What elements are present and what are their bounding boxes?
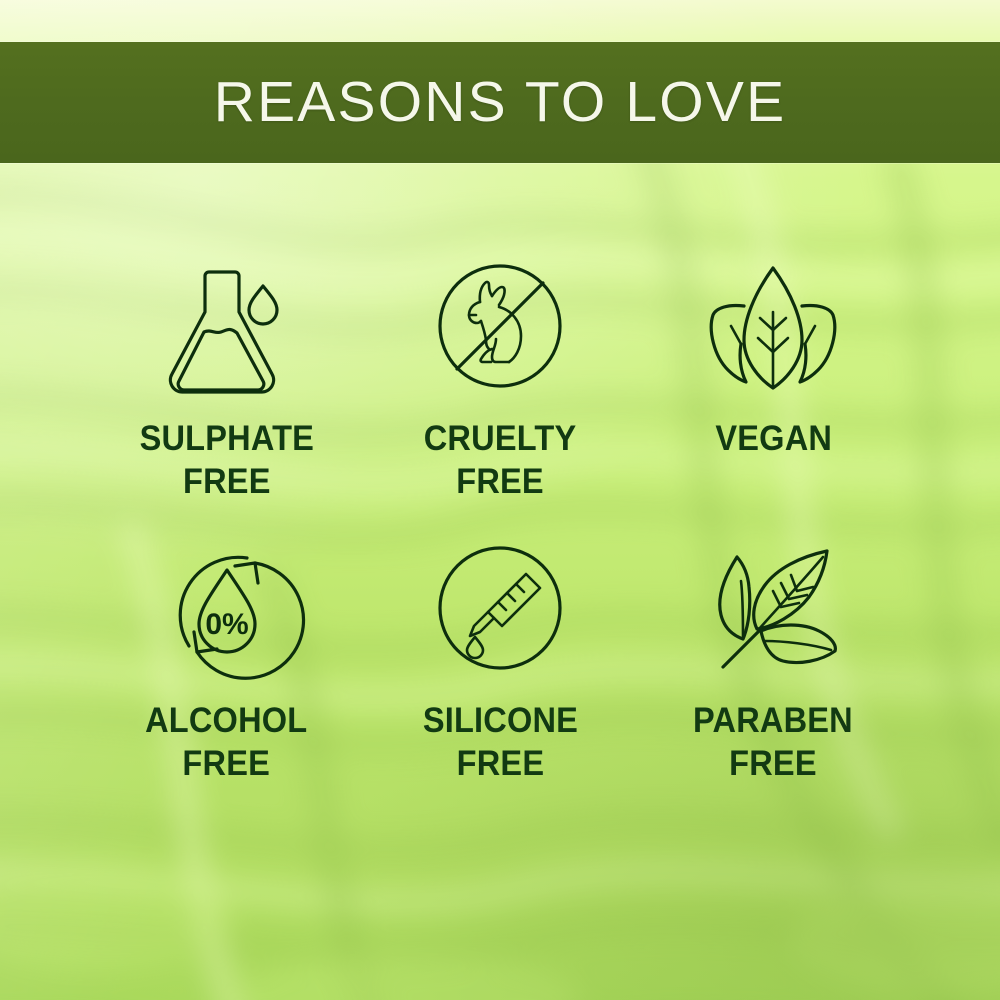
badge-label: CRUELTY FREE (424, 418, 577, 503)
badge-silicone-free: SILICONE FREE (363, 538, 636, 820)
badge-label: VEGAN (715, 418, 832, 461)
flask-droplet-icon (163, 256, 291, 396)
header-banner: REASONS TO LOVE (0, 42, 1000, 163)
badge-label: PARABEN FREE (693, 700, 853, 785)
badge-cruelty-free: CRUELTY FREE (363, 256, 636, 538)
badge-label: SILICONE FREE (422, 700, 577, 785)
dropper-pipette-icon (432, 538, 568, 678)
zero-percent-label: 0% (205, 608, 248, 641)
page-title: REASONS TO LOVE (214, 74, 787, 131)
three-leaves-icon (706, 256, 840, 396)
zero-percent-droplet-icon: 0% (159, 538, 295, 678)
reasons-to-love-infographic: REASONS TO LOVE SULPHATE FREE (0, 0, 1000, 1000)
badge-vegan: VEGAN (637, 256, 910, 538)
badge-alcohol-free: 0% ALCOHOL FREE (90, 538, 363, 820)
benefits-grid: SULPHATE FREE CRUELTY FRE (90, 256, 910, 820)
badge-paraben-free: PARABEN FREE (637, 538, 910, 820)
badge-label: SULPHATE FREE (139, 418, 313, 503)
no-animal-testing-icon (432, 256, 568, 396)
leaf-sprig-icon (703, 538, 843, 678)
badge-sulphate-free: SULPHATE FREE (90, 256, 363, 538)
badge-label: ALCOHOL FREE (146, 700, 308, 785)
